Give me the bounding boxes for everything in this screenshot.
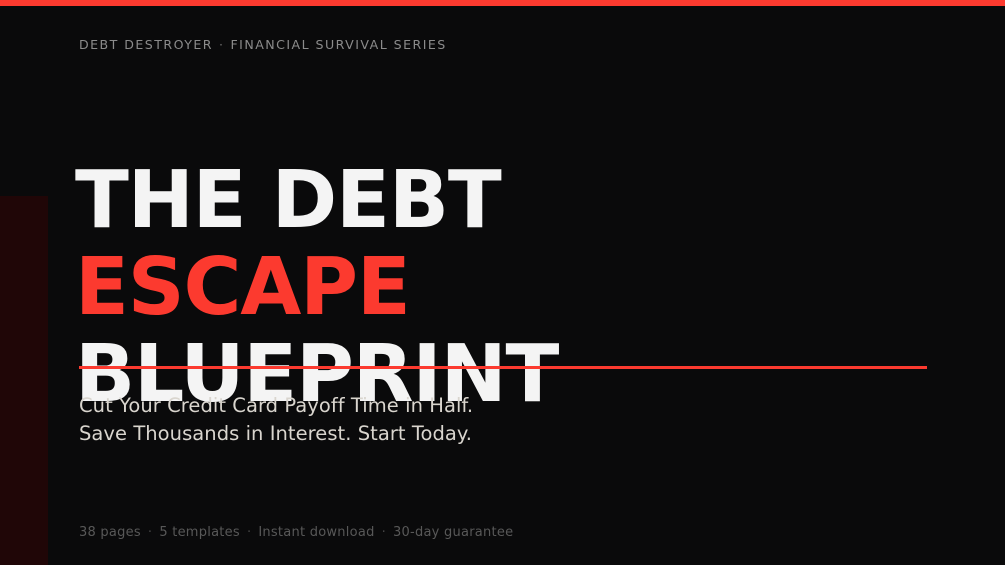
page-title: THE DEBT ESCAPE BLUEPRINT [75, 157, 558, 418]
meta-separator-3: · [375, 525, 393, 540]
meta-item-download: Instant download [258, 525, 374, 540]
accent-divider-rule [79, 366, 927, 369]
meta-item-templates: 5 templates [159, 525, 240, 540]
subtitle-line-2: Save Thousands in Interest. Start Today. [79, 420, 473, 448]
eyebrow-kicker: DEBT DESTROYER·FINANCIAL SURVIVAL SERIES [79, 37, 447, 52]
promo-hero-canvas: DEBT DESTROYER·FINANCIAL SURVIVAL SERIES… [0, 0, 1005, 565]
eyebrow-brand: DEBT DESTROYER [79, 37, 213, 52]
meta-separator-1: · [141, 525, 159, 540]
headline-line-1: THE DEBT [75, 157, 558, 244]
eyebrow-series: FINANCIAL SURVIVAL SERIES [230, 37, 446, 52]
meta-item-pages: 38 pages [79, 525, 141, 540]
subtitle-tagline: Cut Your Credit Card Payoff Time in Half… [79, 392, 473, 448]
subtitle-line-1: Cut Your Credit Card Payoff Time in Half… [79, 392, 473, 420]
eyebrow-separator: · [213, 37, 230, 52]
meta-separator-2: · [240, 525, 258, 540]
left-accent-band [0, 196, 48, 565]
meta-item-guarantee: 30-day guarantee [393, 525, 513, 540]
headline-line-2-accent: ESCAPE [75, 244, 558, 331]
hero-content: DEBT DESTROYER·FINANCIAL SURVIVAL SERIES… [79, 0, 959, 565]
product-meta-list: 38 pages·5 templates·Instant download·30… [79, 525, 513, 540]
